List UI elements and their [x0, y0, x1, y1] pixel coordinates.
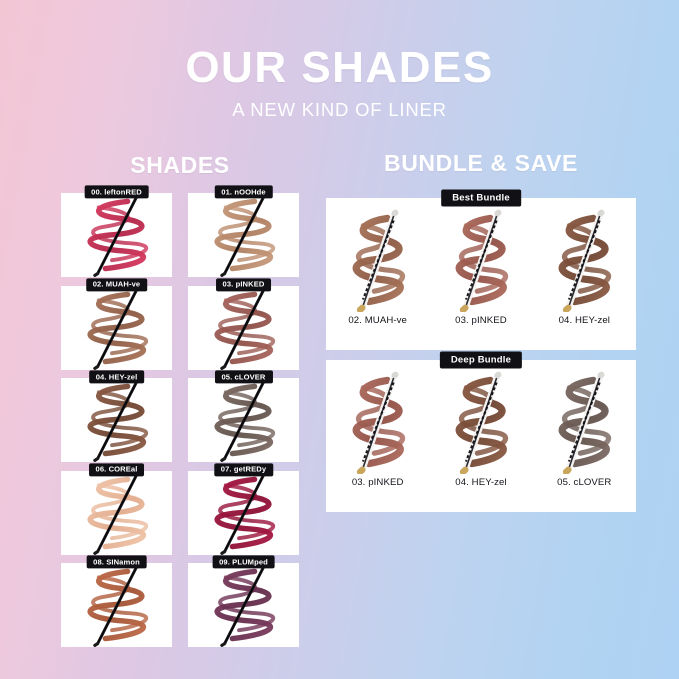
shade-card[interactable]: 06. COREal [61, 471, 172, 555]
shade-name-badge: 08. SINamon [86, 555, 147, 568]
bundle-item[interactable]: 04. HEY-zel [538, 208, 630, 326]
eyeliner-pencil-icon [188, 286, 299, 370]
shade-name-badge: 03. pINKED [216, 278, 272, 291]
eyeliner-pencil-icon [61, 471, 172, 555]
bundle-item[interactable]: 04. HEY-zel [435, 370, 527, 488]
shades-grid: 00. leftonRED 01. nOOHde [61, 193, 299, 647]
bundle-panel-deep[interactable]: Deep Bundle 03. pINKED [326, 360, 636, 512]
shade-name-badge: 04. HEY-zel [89, 370, 145, 383]
bundle-item-label: 05. cLOVER [557, 477, 611, 488]
bundle-badge: Best Bundle [441, 190, 521, 207]
bundle-items-row: 03. pINKED 04. HEY-zel [326, 370, 636, 512]
shade-card[interactable]: 01. nOOHde [188, 193, 299, 277]
shade-card[interactable]: 02. MUAH-ve [61, 286, 172, 370]
squiggle-swatch-icon [538, 370, 630, 474]
squiggle-swatch-icon [538, 208, 630, 312]
shade-card[interactable]: 05. cLOVER [188, 378, 299, 462]
bundle-item-label: 03. pINKED [455, 315, 507, 326]
bundle-item[interactable]: 03. pINKED [332, 370, 424, 488]
shade-card[interactable]: 08. SINamon [61, 563, 172, 647]
shade-name-badge: 05. cLOVER [214, 370, 272, 383]
section-heading-shades: SHADES [63, 152, 297, 179]
eyeliner-pencil-icon [188, 193, 299, 277]
shade-name-badge: 09. PLUMped [212, 555, 275, 568]
eyeliner-pencil-icon [61, 378, 172, 462]
bundle-items-row: 02. MUAH-ve 03. pINKED [326, 208, 636, 350]
eyeliner-pencil-icon [61, 563, 172, 647]
eyeliner-pencil-icon [61, 193, 172, 277]
bundle-item[interactable]: 05. cLOVER [538, 370, 630, 488]
shade-card[interactable]: 00. leftonRED [61, 193, 172, 277]
bundle-item-label: 04. HEY-zel [455, 477, 506, 488]
bundle-item-label: 03. pINKED [352, 477, 404, 488]
squiggle-swatch-icon [332, 370, 424, 474]
eyeliner-pencil-icon [61, 286, 172, 370]
bundle-badge: Deep Bundle [440, 352, 522, 369]
page-title: OUR SHADES [0, 46, 679, 90]
shade-name-badge: 01. nOOHde [214, 185, 272, 198]
eyeliner-pencil-icon [188, 563, 299, 647]
eyeliner-pencil-icon [188, 471, 299, 555]
shade-name-badge: 00. leftonRED [84, 185, 149, 198]
bundle-panel-best[interactable]: Best Bundle 02. MUAH-ve [326, 198, 636, 350]
squiggle-swatch-icon [435, 370, 527, 474]
shade-name-badge: 07. getREDy [214, 463, 273, 476]
infographic-canvas: OUR SHADES A NEW KIND OF LINER SHADES BU… [0, 0, 679, 679]
bundle-item[interactable]: 02. MUAH-ve [332, 208, 424, 326]
shade-card[interactable]: 04. HEY-zel [61, 378, 172, 462]
bundle-item-label: 04. HEY-zel [559, 315, 610, 326]
shade-card[interactable]: 09. PLUMped [188, 563, 299, 647]
bundle-item-label: 02. MUAH-ve [348, 315, 407, 326]
bundle-item[interactable]: 03. pINKED [435, 208, 527, 326]
hero-header: OUR SHADES A NEW KIND OF LINER [0, 46, 679, 121]
shade-name-badge: 02. MUAH-ve [86, 278, 148, 291]
squiggle-swatch-icon [435, 208, 527, 312]
shade-name-badge: 06. COREal [89, 463, 145, 476]
section-heading-bundle: BUNDLE & SAVE [330, 150, 632, 177]
eyeliner-pencil-icon [188, 378, 299, 462]
squiggle-swatch-icon [332, 208, 424, 312]
shade-card[interactable]: 03. pINKED [188, 286, 299, 370]
page-subtitle: A NEW KIND OF LINER [0, 99, 679, 121]
shade-card[interactable]: 07. getREDy [188, 471, 299, 555]
